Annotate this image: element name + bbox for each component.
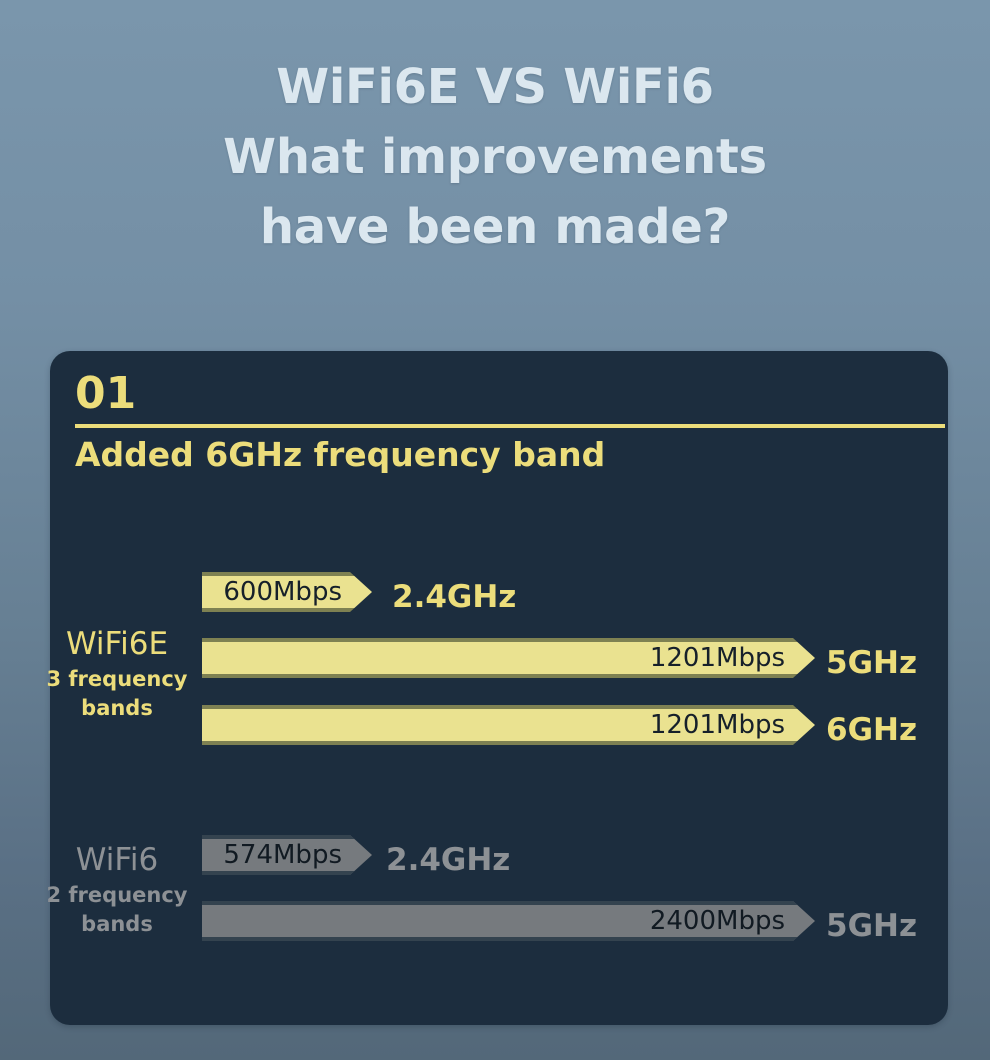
bar-wifi6-2_4ghz: 574Mbps	[202, 835, 372, 875]
bar-wifi6e-5ghz: 1201Mbps	[202, 638, 815, 678]
group-name-wifi6e: WiFi6E	[22, 626, 212, 662]
bar-wifi6e-2_4ghz: 600Mbps	[202, 572, 372, 612]
band-label-wifi6-5ghz: 5GHz	[826, 906, 917, 946]
title-line-1: WiFi6E VS WiFi6	[0, 52, 990, 122]
band-label-wifi6e-6ghz: 6GHz	[826, 710, 917, 750]
section-divider	[75, 424, 945, 428]
band-label-wifi6-2_4ghz: 2.4GHz	[386, 840, 510, 880]
bar-wifi6-5ghz: 2400Mbps	[202, 901, 815, 941]
group-sub-wifi6: 2 frequency bands	[22, 881, 212, 939]
group-sub-wifi6e: 3 frequency bands	[22, 665, 212, 723]
bar-wifi6e-6ghz: 1201Mbps	[202, 705, 815, 745]
infographic-canvas: WiFi6E VS WiFi6 What improvements have b…	[0, 0, 990, 1060]
bar-value-label: 1201Mbps	[650, 705, 815, 745]
bar-value-label: 2400Mbps	[650, 901, 815, 941]
section-number: 01	[75, 371, 136, 417]
bar-value-label: 574Mbps	[223, 835, 372, 875]
page-title: WiFi6E VS WiFi6 What improvements have b…	[0, 52, 990, 262]
section-heading: Added 6GHz frequency band	[75, 432, 605, 478]
bar-value-label: 600Mbps	[223, 572, 372, 612]
band-label-wifi6e-2_4ghz: 2.4GHz	[392, 577, 516, 617]
title-line-3: have been made?	[0, 192, 990, 262]
bar-value-label: 1201Mbps	[650, 638, 815, 678]
group-label-wifi6: WiFi6 2 frequency bands	[22, 842, 212, 939]
group-label-wifi6e: WiFi6E 3 frequency bands	[22, 626, 212, 723]
band-label-wifi6e-5ghz: 5GHz	[826, 643, 917, 683]
group-name-wifi6: WiFi6	[22, 842, 212, 878]
title-line-2: What improvements	[0, 122, 990, 192]
